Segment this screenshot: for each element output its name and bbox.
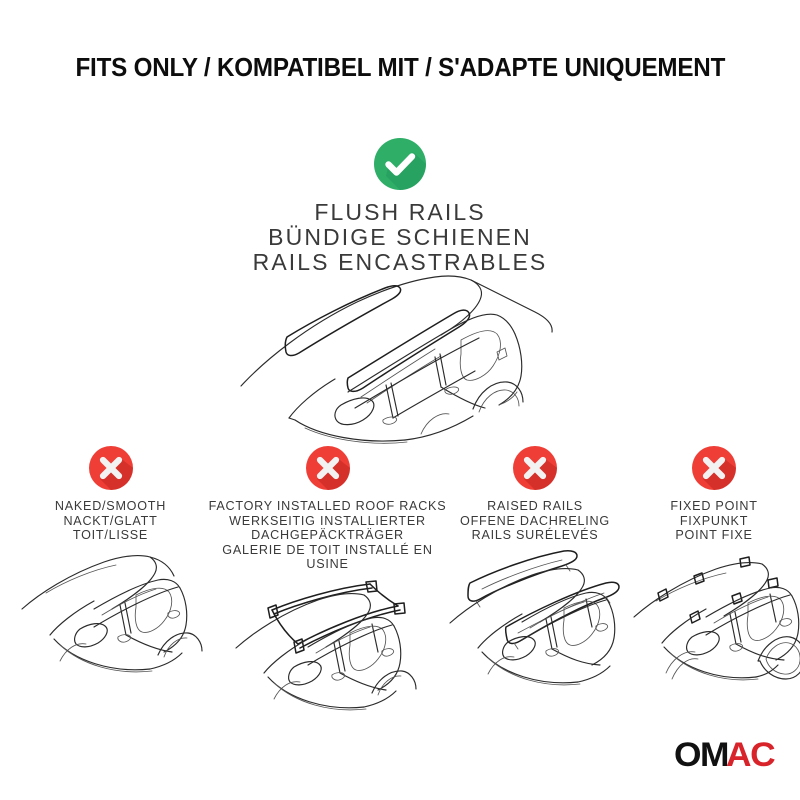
incompatible-label-en: NAKED/SMOOTH [8, 499, 213, 514]
incompatible-label-group: NAKED/SMOOTH NACKT/GLATT TOIT/LISSE [8, 499, 213, 543]
incompatible-item-raised-rails: RAISED RAILS OFFENE DACHRELING RAILS SUR… [440, 446, 630, 689]
compatible-label-en: FLUSH RAILS [0, 200, 800, 225]
incompatible-vehicle-art [628, 549, 800, 689]
banner-title: FITS ONLY / KOMPATIBEL MIT / S'ADAPTE UN… [75, 52, 725, 83]
incompatible-label-group: FACTORY INSTALLED ROOF RACKS WERKSEITIG … [205, 499, 450, 572]
x-circle-icon [692, 446, 736, 490]
suv-naked-roof-illustration [16, 549, 206, 689]
suv-flush-rails-illustration [235, 268, 565, 448]
incompatible-label-group: RAISED RAILS OFFENE DACHRELING RAILS SUR… [440, 499, 630, 543]
omac-logo: OMAC [674, 738, 772, 772]
incompatible-label-fr: POINT FIXE [628, 528, 800, 543]
incompatible-vehicle-art [8, 549, 213, 689]
compatible-label-de: BÜNDIGE SCHIENEN [0, 225, 800, 250]
incompatible-label-de: NACKT/GLATT [8, 514, 213, 529]
incompatible-label-en: FIXED POINT [628, 499, 800, 514]
x-circle-icon [306, 446, 350, 490]
suv-raised-rails-illustration [440, 549, 635, 689]
check-circle-icon [374, 138, 426, 190]
incompatible-label-en: RAISED RAILS [440, 499, 630, 514]
compatible-label-group: FLUSH RAILS BÜNDIGE SCHIENEN RAILS ENCAS… [0, 200, 800, 275]
incompatible-label-de: OFFENE DACHRELING [440, 514, 630, 529]
suv-factory-roof-rack-illustration [228, 578, 428, 718]
suv-fixed-point-illustration [628, 549, 800, 689]
incompatible-label-fr: RAILS SURÉLEVÉS [440, 528, 630, 543]
logo-text-red: AC [726, 738, 774, 772]
incompatible-label-de-1: WERKSEITIG INSTALLIERTER [205, 514, 450, 529]
incompatible-label-fr: GALERIE DE TOIT INSTALLÉ EN USINE [205, 543, 450, 572]
compatible-section: FLUSH RAILS BÜNDIGE SCHIENEN RAILS ENCAS… [0, 138, 800, 275]
incompatible-section: NAKED/SMOOTH NACKT/GLATT TOIT/LISSE [0, 446, 800, 756]
incompatible-vehicle-art [205, 578, 450, 718]
incompatible-item-fixed-point: FIXED POINT FIXPUNKT POINT FIXE [628, 446, 800, 689]
incompatible-item-naked-smooth: NAKED/SMOOTH NACKT/GLATT TOIT/LISSE [8, 446, 213, 689]
compatible-vehicle-art [0, 268, 800, 453]
incompatible-label-en: FACTORY INSTALLED ROOF RACKS [205, 499, 450, 514]
logo-text-dark: OM [674, 738, 728, 772]
incompatible-item-factory-roof-racks: FACTORY INSTALLED ROOF RACKS WERKSEITIG … [205, 446, 450, 718]
incompatible-label-de-2: DACHGEPÄCKTRÄGER [205, 528, 450, 543]
incompatible-label-de: FIXPUNKT [628, 514, 800, 529]
incompatible-label-fr: TOIT/LISSE [8, 528, 213, 543]
fitment-infographic: FITS ONLY / KOMPATIBEL MIT / S'ADAPTE UN… [0, 0, 800, 800]
x-circle-icon [513, 446, 557, 490]
banner: FITS ONLY / KOMPATIBEL MIT / S'ADAPTE UN… [0, 52, 800, 83]
incompatible-label-group: FIXED POINT FIXPUNKT POINT FIXE [628, 499, 800, 543]
x-circle-icon [89, 446, 133, 490]
incompatible-vehicle-art [440, 549, 630, 689]
